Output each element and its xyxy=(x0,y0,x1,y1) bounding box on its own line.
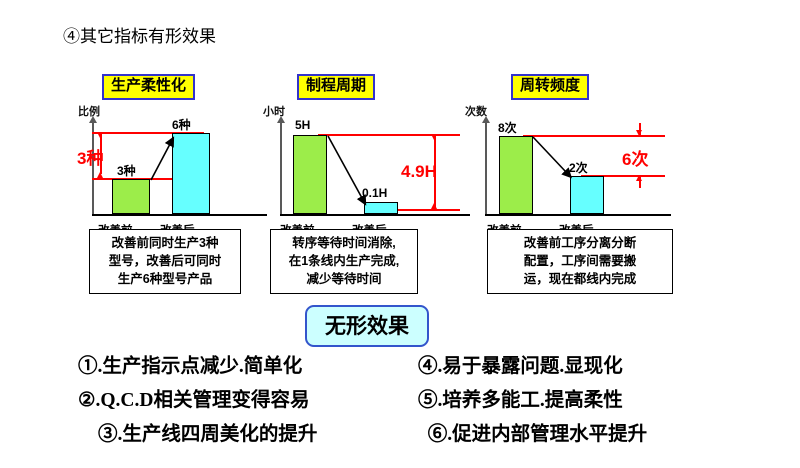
list-row: ③.生产线四周美化的提升 ⑥.促进内部管理水平提升 xyxy=(78,414,738,448)
list-item: ④.易于暴露问题.显现化 xyxy=(418,349,738,378)
chart-process-cycle: 制程周期 小时 4.9H 5H 0.1H xyxy=(258,70,488,220)
slide-canvas: ④其它指标有形效果 生产柔性化 比例 3种 3种 6种 xyxy=(0,0,800,468)
note-line: 配置，工序间需要搬 xyxy=(493,252,667,270)
list-item: ⑤.培养多能工.提高柔性 xyxy=(418,383,738,412)
note-box-production-flexibility: 改善前同时生产3种 型号，改善后可同时 生产6种型号产品 xyxy=(89,229,241,294)
note-line: 型号，改善后可同时 xyxy=(95,252,235,270)
note-line: 运，现在都线内完成 xyxy=(493,270,667,288)
chart-title: 生产柔性化 xyxy=(102,74,195,100)
chart-title: 周转频度 xyxy=(511,74,589,100)
note-line: 生产6种型号产品 xyxy=(95,270,235,288)
trend-arrow-down-icon xyxy=(258,118,478,218)
list-row: ②.Q.C.D相关管理变得容易 ⑤.培养多能工.提高柔性 xyxy=(78,380,738,414)
list-row: ①.生产指示点减少.简单化 ④.易于暴露问题.显现化 xyxy=(78,346,738,380)
list-item: ⑥.促进内部管理水平提升 xyxy=(428,417,738,446)
plot-area: 6次 8次 2次 xyxy=(465,118,685,218)
list-item: ②.Q.C.D相关管理变得容易 xyxy=(78,383,418,412)
list-item: ③.生产线四周美化的提升 xyxy=(78,417,428,446)
page-title: ④其它指标有形效果 xyxy=(63,22,216,47)
plot-area: 4.9H 5H 0.1H xyxy=(258,118,478,218)
note-line: 在1条线内生产完成, xyxy=(276,252,412,270)
chart-title: 制程周期 xyxy=(297,74,375,100)
note-line: 减少等待时间 xyxy=(276,270,412,288)
plot-area: 3种 3种 6种 xyxy=(78,118,278,218)
note-box-turnover-frequency: 改善前工序分离分断 配置，工序间需要搬 运，现在都线内完成 xyxy=(487,229,673,294)
trend-arrow-down-icon xyxy=(465,118,685,218)
list-item: ①.生产指示点减少.简单化 xyxy=(78,349,418,378)
intangible-effects-heading: 无形效果 xyxy=(305,305,429,347)
note-line: 改善前工序分离分断 xyxy=(493,234,667,252)
trend-arrow-up-icon xyxy=(78,118,278,218)
note-line: 转序等待时间消除, xyxy=(276,234,412,252)
note-line: 改善前同时生产3种 xyxy=(95,234,235,252)
chart-turnover-frequency: 周转频度 次数 6次 8次 2次 xyxy=(465,70,695,220)
intangible-effects-list: ①.生产指示点减少.简单化 ④.易于暴露问题.显现化 ②.Q.C.D相关管理变得… xyxy=(78,346,738,448)
note-box-process-cycle: 转序等待时间消除, 在1条线内生产完成, 减少等待时间 xyxy=(270,229,418,294)
